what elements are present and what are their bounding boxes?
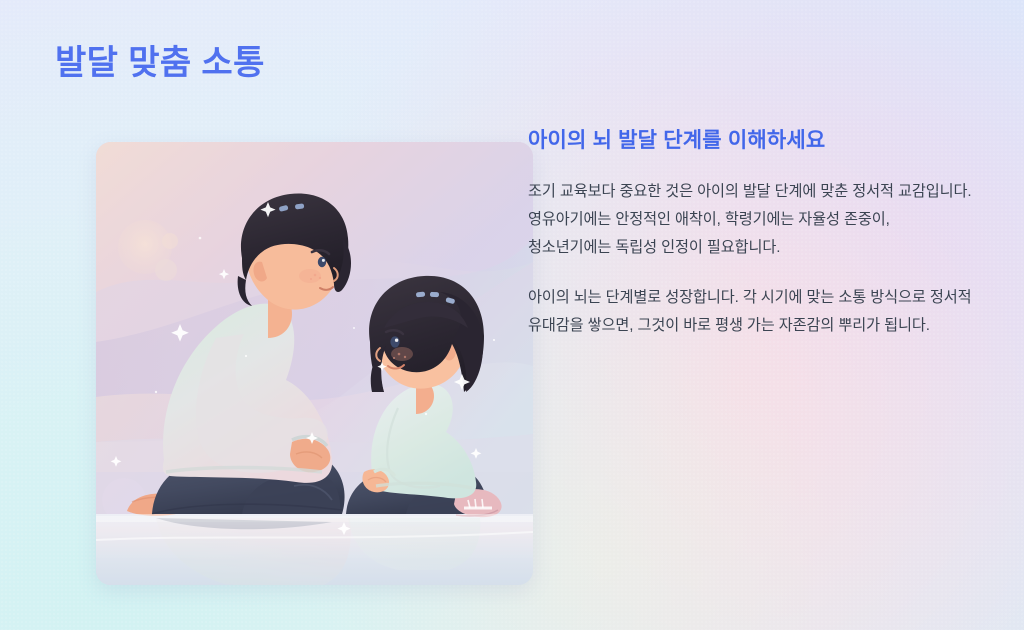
parent-child-illustration <box>96 142 533 585</box>
slide-root: 발달 맞춤 소통 <box>0 0 1024 630</box>
body-paragraph-2: 아이의 뇌는 단계별로 성장합니다. 각 시기에 맞는 소통 방식으로 정서적 … <box>528 284 974 340</box>
body-paragraph-1: 조기 교육보다 중요한 것은 아이의 발달 단계에 맞춘 정서적 교감입니다. … <box>528 178 974 262</box>
content-columns: 아이의 뇌 발달 단계를 이해하세요 조기 교육보다 중요한 것은 아이의 발달… <box>0 0 1024 630</box>
section-heading: 아이의 뇌 발달 단계를 이해하세요 <box>528 126 974 156</box>
illustration-card <box>96 142 533 585</box>
article-column: 아이의 뇌 발달 단계를 이해하세요 조기 교육보다 중요한 것은 아이의 발달… <box>528 126 974 340</box>
